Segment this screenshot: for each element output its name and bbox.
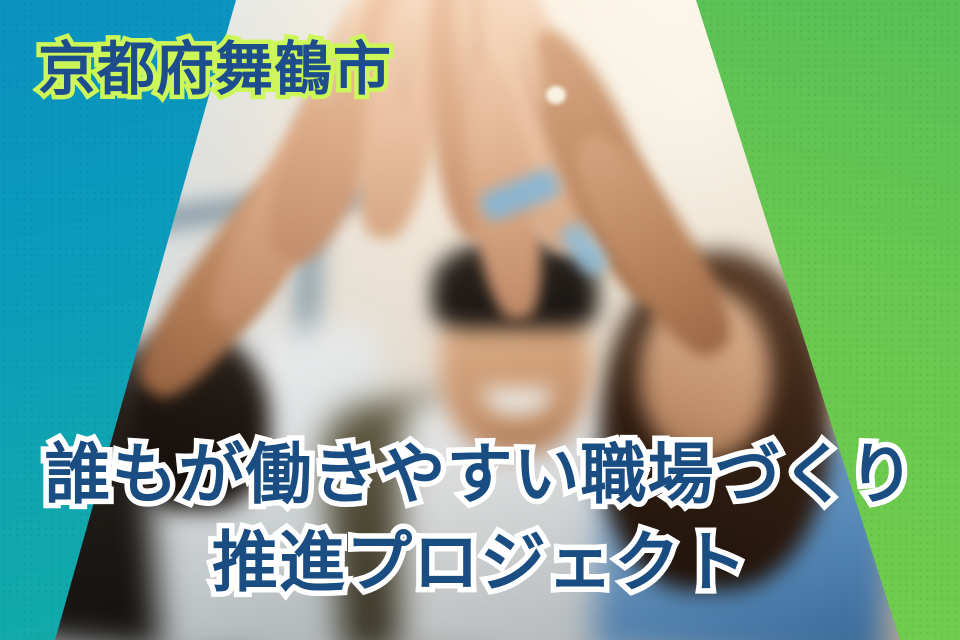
headline-line-1: 誰もが働きやすい職場づくり [0,438,960,512]
campaign-banner: 京都府舞鶴市 誰もが働きやすい職場づくり 推進プロジェクト [0,0,960,640]
headline: 誰もが働きやすい職場づくり 推進プロジェクト [0,438,960,600]
municipality-label: 京都府舞鶴市 [38,22,392,106]
headline-line-2: 推進プロジェクト [0,526,960,600]
